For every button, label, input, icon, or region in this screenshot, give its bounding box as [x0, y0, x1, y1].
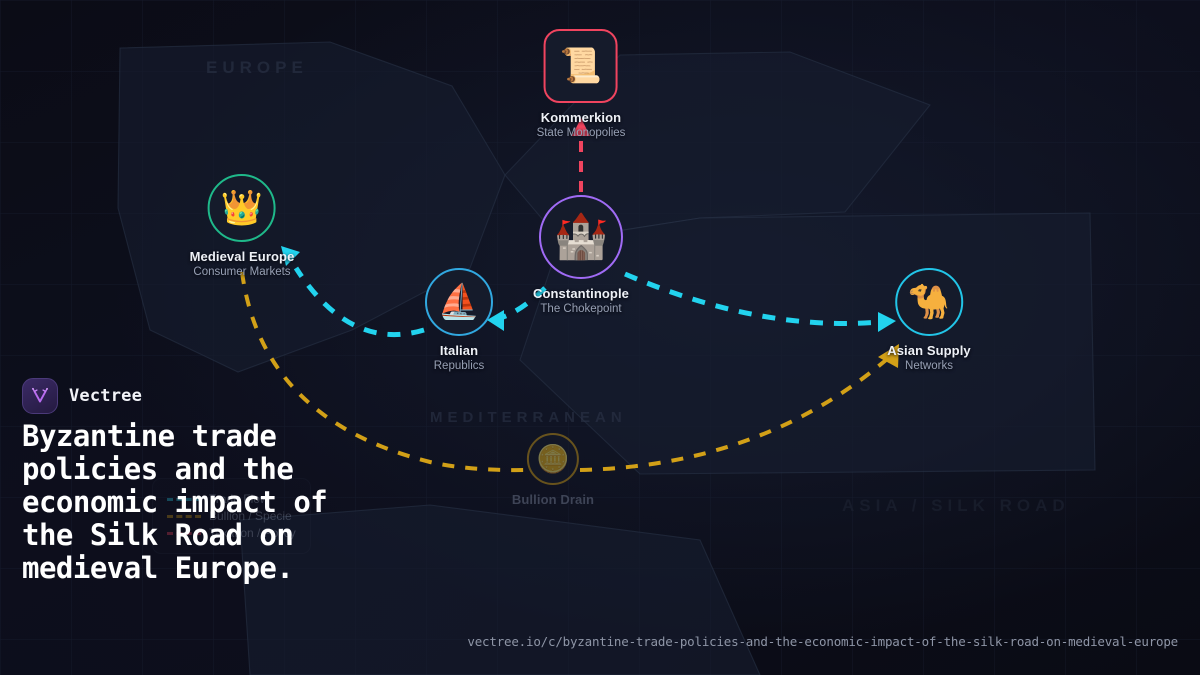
node-bullion-drain[interactable]: 🪙Bullion Drain: [512, 433, 594, 507]
node-shape-asian-supply[interactable]: 🐪: [895, 268, 963, 336]
node-label-constantinople: Constantinople: [533, 286, 629, 301]
node-kommerkion[interactable]: 📜KommerkionState Monopolies: [537, 29, 626, 139]
node-constantinople[interactable]: 🏰ConstantinopleThe Chokepoint: [533, 195, 629, 315]
node-label-medieval-europe: Medieval Europe: [190, 249, 295, 264]
vectree-v-logo-icon: [22, 378, 58, 414]
crown-icon: 👑: [221, 191, 263, 225]
node-label-kommerkion: Kommerkion: [537, 110, 626, 125]
sailboat-icon: ⛵: [438, 285, 480, 319]
node-sublabel-italian: Republics: [425, 360, 493, 372]
coin-icon: 🪙: [536, 446, 570, 473]
footer-url: vectree.io/c/byzantine-trade-policies-an…: [467, 634, 1178, 649]
node-shape-bullion-drain[interactable]: 🪙: [527, 433, 579, 485]
node-shape-kommerkion[interactable]: 📜: [544, 29, 618, 103]
node-asian-supply[interactable]: 🐪Asian SupplyNetworks: [887, 268, 971, 372]
castle-icon: 🏰: [554, 215, 609, 259]
node-shape-italian[interactable]: ⛵: [425, 268, 493, 336]
node-sublabel-medieval-europe: Consumer Markets: [190, 266, 295, 278]
node-sublabel-constantinople: The Chokepoint: [533, 303, 629, 315]
node-label-bullion-drain: Bullion Drain: [512, 492, 594, 507]
node-sublabel-kommerkion: State Monopolies: [537, 127, 626, 139]
node-sublabel-asian-supply: Networks: [887, 360, 971, 372]
brand: Vectree: [22, 378, 142, 414]
brand-name: Vectree: [69, 386, 142, 406]
page-title: Byzantine trade policies and the economi…: [22, 420, 382, 585]
node-italian[interactable]: ⛵ItalianRepublics: [425, 268, 493, 372]
camel-icon: 🐪: [908, 285, 950, 319]
node-shape-constantinople[interactable]: 🏰: [539, 195, 623, 279]
node-medieval-europe[interactable]: 👑Medieval EuropeConsumer Markets: [190, 174, 295, 278]
node-label-asian-supply: Asian Supply: [887, 343, 971, 358]
scroll-icon: 📜: [560, 49, 602, 83]
node-label-italian: Italian: [425, 343, 493, 358]
vectree-v-glyph: [29, 385, 51, 407]
node-shape-medieval-europe[interactable]: 👑: [208, 174, 276, 242]
